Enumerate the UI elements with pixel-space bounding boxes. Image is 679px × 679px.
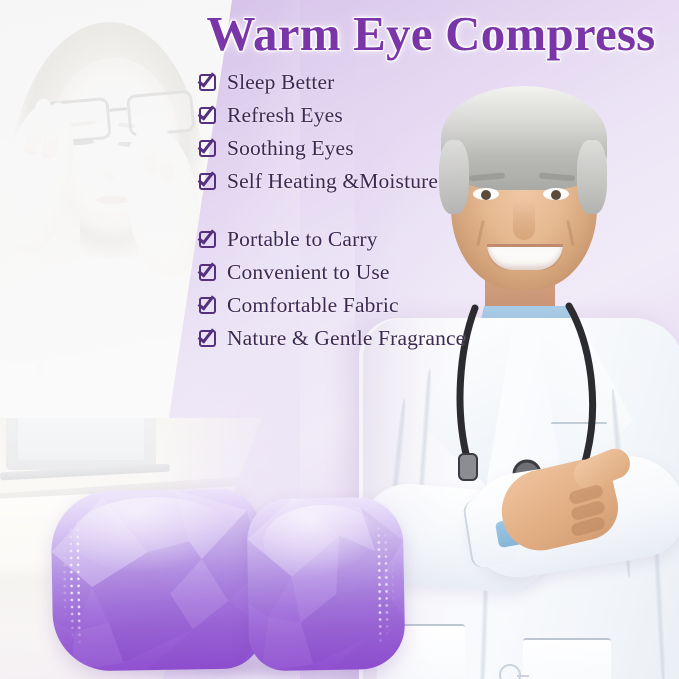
benefit-label: Nature & Gentle Fragrance — [227, 326, 465, 351]
coat-embroidered-logo — [499, 664, 521, 679]
page-title: Warm Eye Compress — [186, 9, 676, 59]
checkbox-checked-icon — [199, 296, 218, 315]
benefit-label: Soothing Eyes — [227, 136, 354, 161]
list-item: Convenient to Use — [199, 256, 669, 289]
benefit-label: Portable to Carry — [227, 227, 378, 252]
benefit-group-primary: Sleep Better Refresh Eyes Soothing Eyes … — [199, 66, 669, 198]
doctor-coat-pocket-right — [523, 638, 611, 679]
benefit-label: Convenient to Use — [227, 260, 390, 285]
checkbox-checked-icon — [199, 106, 218, 125]
benefit-label: Sleep Better — [227, 70, 334, 95]
checkbox-checked-icon — [199, 139, 218, 158]
benefit-label: Comfortable Fabric — [227, 293, 399, 318]
eye-pad-right — [247, 497, 406, 672]
list-item: Self Heating &Moisture — [199, 165, 669, 198]
list-item: Sleep Better — [199, 66, 669, 99]
list-item: Comfortable Fabric — [199, 289, 669, 322]
benefit-label: Refresh Eyes — [227, 103, 343, 128]
list-item: Portable to Carry — [199, 223, 669, 256]
product-eye-compress-pads — [52, 482, 402, 679]
benefit-group-secondary: Portable to Carry Convenient to Use Comf… — [199, 223, 669, 355]
woman-photo-fade-overlay — [0, 0, 232, 430]
checkbox-checked-icon — [199, 329, 218, 348]
perforated-edge-right — [374, 497, 403, 669]
list-item: Nature & Gentle Fragrance — [199, 322, 669, 355]
list-item: Soothing Eyes — [199, 132, 669, 165]
woman-tired-eyes-photo — [0, 0, 232, 430]
checkbox-checked-icon — [199, 172, 218, 191]
product-marketing-poster: Warm Eye Compress Sleep Better Refresh E… — [0, 0, 679, 679]
benefit-label: Self Heating &Moisture — [227, 169, 438, 194]
eye-pad-left — [50, 488, 263, 672]
checkbox-checked-icon — [199, 263, 218, 282]
benefits-list: Sleep Better Refresh Eyes Soothing Eyes … — [199, 66, 669, 355]
list-item: Refresh Eyes — [199, 99, 669, 132]
checkbox-checked-icon — [199, 73, 218, 92]
doctor-chest-pocket — [551, 422, 607, 458]
perforated-edge-left — [52, 491, 81, 671]
checkbox-checked-icon — [199, 230, 218, 249]
